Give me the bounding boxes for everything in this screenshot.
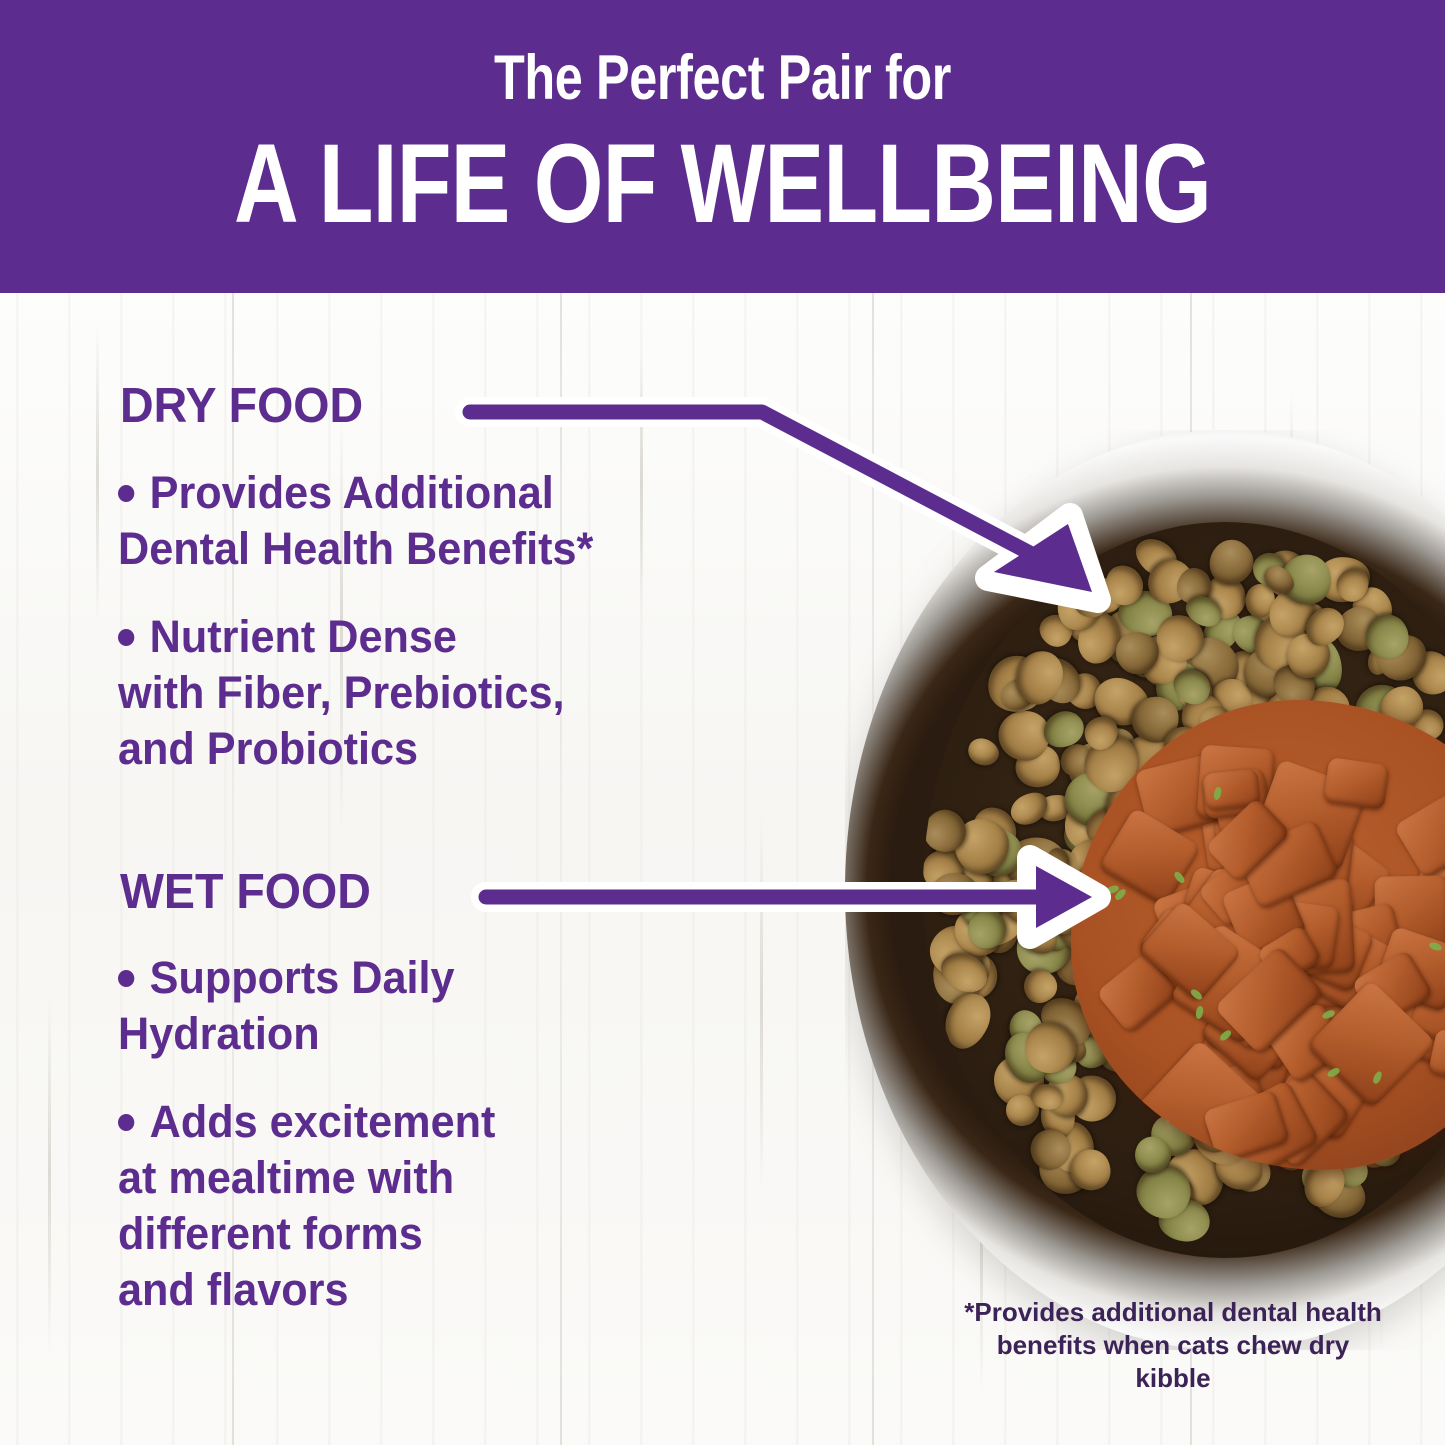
wet-food-chunk	[1394, 782, 1445, 879]
dry-food-bullets: Provides Additional Dental Health Benefi…	[118, 465, 752, 777]
kibble-piece	[998, 710, 1050, 761]
dry-food-heading: DRY FOOD	[120, 378, 363, 434]
bullet-dot	[118, 629, 134, 646]
list-item: Supports Daily Hydration	[118, 950, 752, 1062]
wet-food-heading: WET FOOD	[120, 864, 371, 920]
page-title: A LIFE OF WELLBEING	[145, 128, 1301, 240]
wet-food-bullets: Supports Daily Hydration Adds excitement…	[118, 950, 752, 1318]
header-band: The Perfect Pair for A LIFE OF WELLBEING	[0, 0, 1445, 293]
cat-food-bowl-photo	[845, 430, 1445, 1350]
list-item: Nutrient Dense with Fiber, Prebiotics, a…	[118, 609, 752, 777]
footnote-text: *Provides additional dental health benef…	[958, 1296, 1388, 1395]
infographic-page: The Perfect Pair for A LIFE OF WELLBEING	[0, 0, 1445, 1445]
list-item: Adds excitement at mealtime with differe…	[118, 1094, 752, 1318]
bullet-dot	[118, 970, 134, 987]
wet-food-chunk	[1323, 757, 1390, 810]
bullet-dot	[118, 1114, 134, 1131]
list-item: Provides Additional Dental Health Benefi…	[118, 465, 752, 577]
header-subtitle: The Perfect Pair for	[145, 43, 1301, 113]
kibble-piece	[965, 734, 1003, 769]
bullet-dot	[118, 485, 134, 502]
